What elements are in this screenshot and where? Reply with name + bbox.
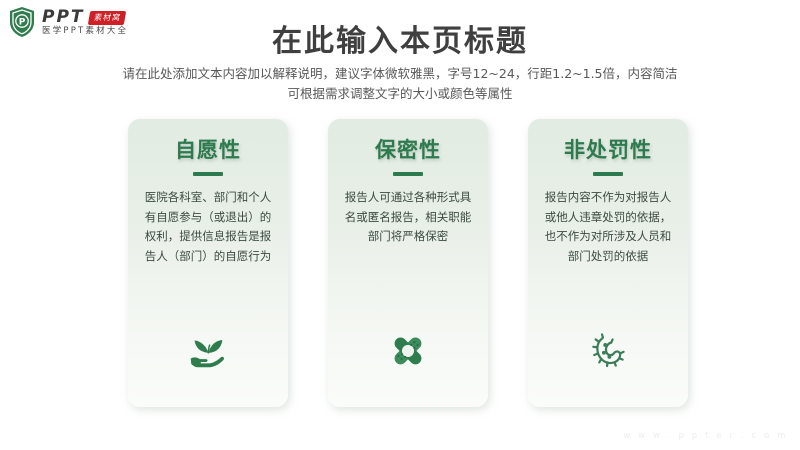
card-divider <box>593 172 623 176</box>
feature-card-voluntary[interactable]: 自愿性 医院各科室、部门和个人有自愿参与（或退出）的权利，提供信息报告是报告人（… <box>128 119 288 407</box>
card-body-text: 报告人可通过各种形式具名或匿名报告，相关职能部门将严格保密 <box>344 188 472 247</box>
feature-card-non-punitive[interactable]: 非处罚性 报告内容不作为对报告人或他人违章处罚的依据，也不作为对所涉及人员和部门… <box>528 119 688 407</box>
card-title: 非处罚性 <box>564 139 652 162</box>
card-divider <box>393 172 423 176</box>
subtitle-line-2: 可根据需求调整文字的大小或颜色等属性 <box>0 84 800 104</box>
crossed-bandages-icon <box>385 327 431 373</box>
card-divider <box>193 172 223 176</box>
subtitle-line-1: 请在此处添加文本内容加以解释说明，建议字体微软雅黑，字号12~24，行距1.2~… <box>0 64 800 84</box>
card-body-text: 医院各科室、部门和个人有自愿参与（或退出）的权利，提供信息报告是报告人（部门）的… <box>144 188 272 266</box>
hand-holding-plant-icon <box>185 327 231 373</box>
page-subtitle: 请在此处添加文本内容加以解释说明，建议字体微软雅黑，字号12~24，行距1.2~… <box>0 64 800 104</box>
bacteria-icon <box>585 327 631 373</box>
card-title: 保密性 <box>375 139 441 162</box>
card-title: 自愿性 <box>175 139 241 162</box>
feature-card-row: 自愿性 医院各科室、部门和个人有自愿参与（或退出）的权利，提供信息报告是报告人（… <box>128 119 688 407</box>
page-title: 在此输入本页标题 <box>0 16 800 60</box>
card-body-text: 报告内容不作为对报告人或他人违章处罚的依据，也不作为对所涉及人员和部门处罚的依据 <box>544 188 672 266</box>
site-watermark: w w w . p p t e r . c o m <box>623 431 788 441</box>
feature-card-confidential[interactable]: 保密性 报告人可通过各种形式具名或匿名报告，相关职能部门将严格保密 <box>328 119 488 407</box>
